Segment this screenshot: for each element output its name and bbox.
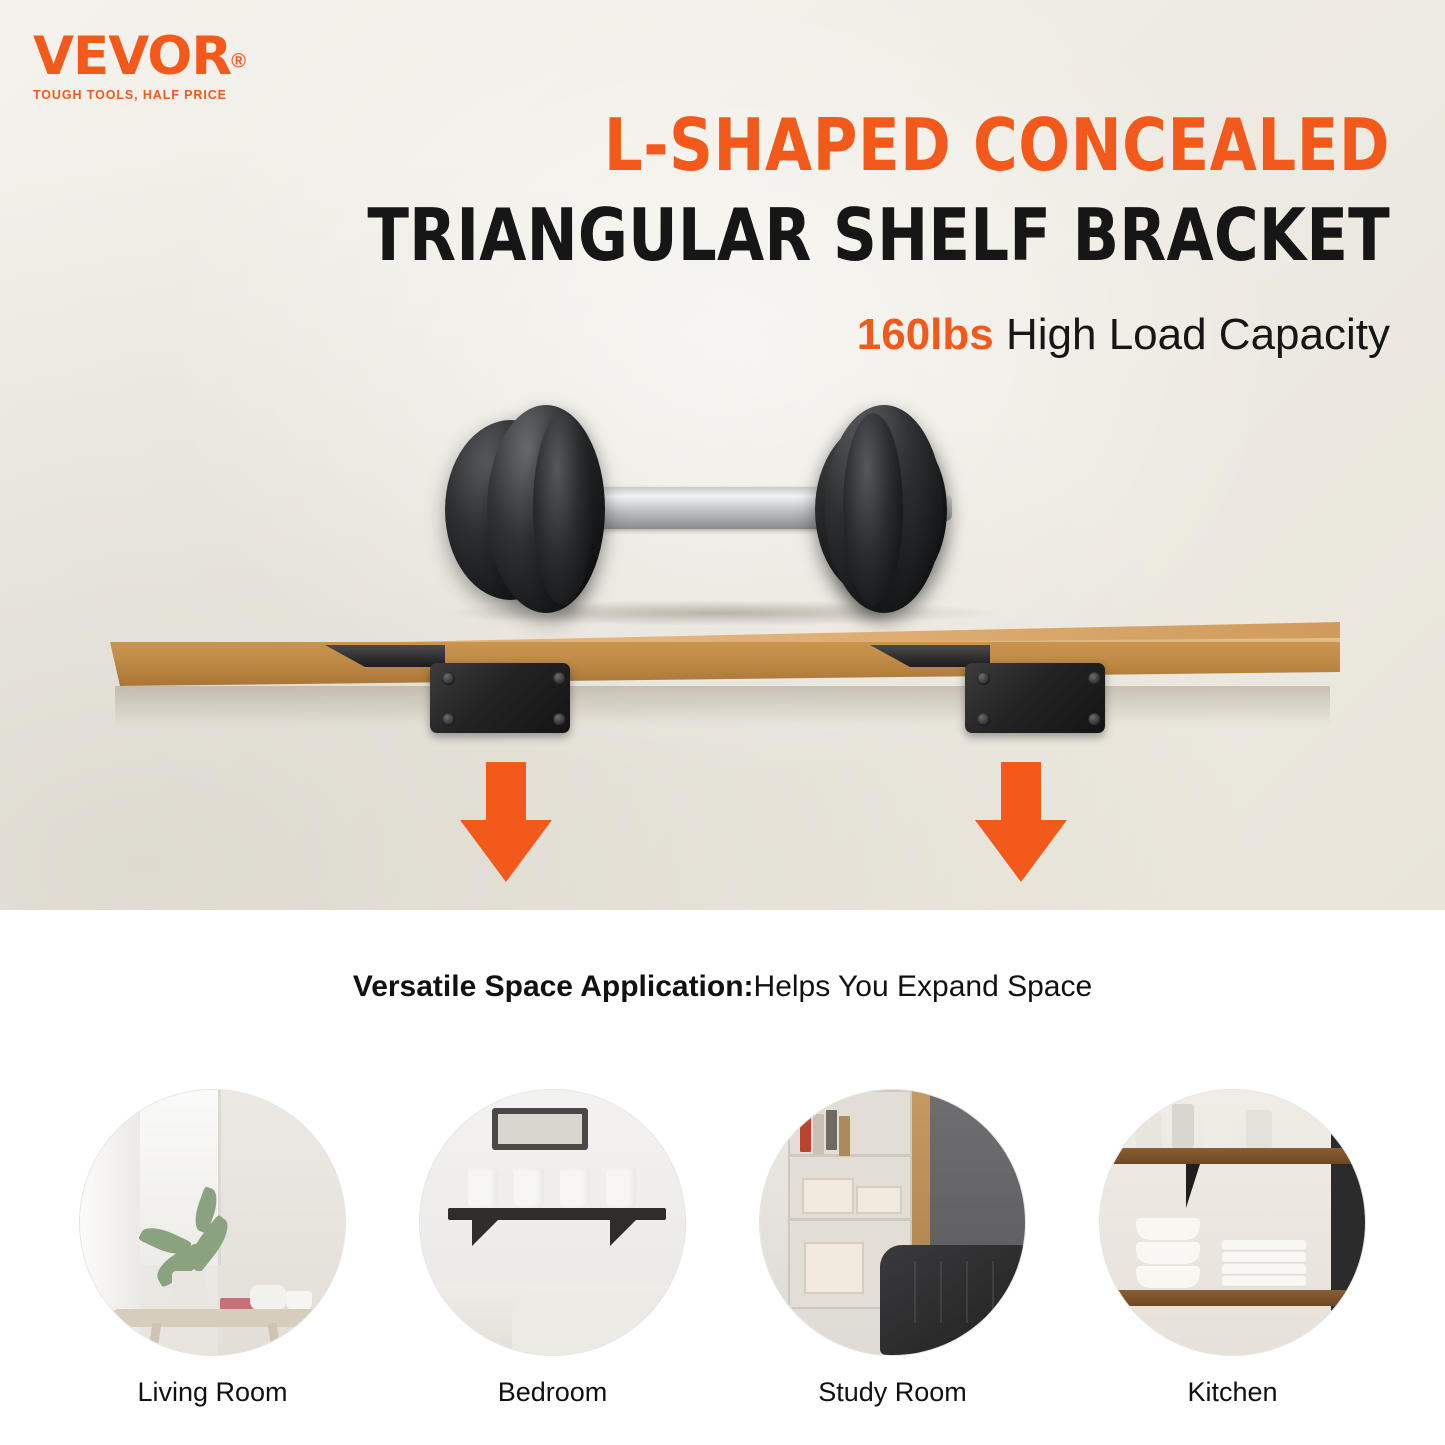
capacity-line: 160lbs High Load Capacity [290, 310, 1390, 360]
storage-box-1 [802, 1178, 854, 1214]
registered-trademark-icon: ® [231, 51, 246, 73]
mug-4 [606, 1168, 636, 1208]
applications-heading: Versatile Space Application:Helps You Ex… [0, 970, 1445, 1004]
arrow-right-stem [1001, 762, 1041, 824]
application-gallery: Living Room Bedroom [0, 1090, 1445, 1408]
jar-4 [1246, 1110, 1272, 1148]
side-table [110, 1309, 345, 1327]
applications-heading-bold: Versatile Space Application: [353, 970, 754, 1003]
teapot [250, 1285, 286, 1311]
chair-seam-4 [992, 1261, 994, 1323]
shelf-front-face [110, 642, 1340, 686]
bookcase-shelf-2 [790, 1218, 910, 1221]
mug-1 [468, 1168, 498, 1208]
table-leg-1 [148, 1322, 162, 1355]
l-bracket-left [325, 645, 585, 760]
living-room-scene [80, 1090, 345, 1355]
down-arrow-left [460, 762, 552, 882]
jar-3 [1204, 1116, 1232, 1148]
office-chair [880, 1245, 1025, 1355]
plate-stack-1 [1222, 1240, 1306, 1250]
bookcase-shelf-1 [790, 1154, 910, 1157]
application-item-kitchen[interactable]: Kitchen [1098, 1090, 1368, 1408]
teacup [286, 1291, 312, 1311]
bowl-2 [1136, 1242, 1200, 1264]
application-item-study-room[interactable]: Study Room [758, 1090, 1028, 1408]
application-label-living-room: Living Room [137, 1377, 287, 1408]
kitchen-bracket [1186, 1164, 1200, 1208]
bracket-left-arm [325, 645, 445, 667]
bracket-left-screw-2 [442, 713, 455, 726]
kitchen-dark-edge [1331, 1090, 1365, 1355]
book-3 [826, 1110, 837, 1150]
book-4 [839, 1116, 850, 1156]
applications-section: Versatile Space Application:Helps You Ex… [0, 910, 1445, 1445]
brand-tagline: TOUGH TOOLS, HALF PRICE [33, 88, 303, 102]
arrow-left-head [460, 820, 552, 882]
application-item-bedroom[interactable]: Bedroom [418, 1090, 688, 1408]
application-label-kitchen: Kitchen [1187, 1377, 1277, 1408]
brand-name: VEVOR [33, 30, 231, 83]
dumbbell-plate-left-face [533, 413, 593, 605]
down-arrow-right [975, 762, 1067, 882]
arrow-left-stem [486, 762, 526, 824]
bedroom-scene [420, 1090, 685, 1355]
study-room-scene [760, 1090, 1025, 1355]
wall-frame-inner [498, 1114, 582, 1144]
brand-logo: VEVOR® TOUGH TOOLS, HALF PRICE [33, 30, 303, 102]
applications-heading-rest: Helps You Expand Space [754, 970, 1093, 1003]
headline-line-1: L-SHAPED CONCEALED [290, 108, 1390, 184]
capacity-value: 160lbs [857, 310, 994, 359]
application-label-study-room: Study Room [818, 1377, 967, 1408]
dumbbell-plate-right-face [843, 413, 903, 605]
shelf-shadow [115, 686, 1330, 726]
arrow-right-head [975, 820, 1067, 882]
kitchen-scene [1100, 1090, 1365, 1355]
application-label-bedroom: Bedroom [498, 1377, 608, 1408]
plant-pot [172, 1271, 206, 1311]
book-1 [800, 1112, 811, 1152]
kitchen-shelf-bottom [1100, 1290, 1365, 1306]
chair-seam-2 [940, 1261, 942, 1323]
bedroom-bracket-left [472, 1220, 498, 1246]
jar-1 [1136, 1114, 1162, 1148]
chair-seam-1 [914, 1261, 916, 1323]
mug-3 [560, 1168, 590, 1208]
capacity-text: High Load Capacity [994, 310, 1390, 359]
bedroom-shelf [448, 1208, 666, 1220]
jar-2 [1172, 1104, 1194, 1148]
blanket [512, 1293, 685, 1355]
headline-line-2: TRIANGULAR SHELF BRACKET [290, 199, 1390, 275]
bracket-left-screw-4 [553, 713, 566, 726]
bracket-right-screw-3 [1088, 672, 1101, 685]
living-room-photo [80, 1090, 345, 1355]
wall-frame [492, 1108, 588, 1150]
book-2 [813, 1114, 824, 1154]
bedroom-bracket-right [610, 1220, 636, 1246]
chair-seam-3 [966, 1261, 968, 1323]
plate-stack-3 [1222, 1264, 1306, 1274]
bedroom-photo [420, 1090, 685, 1355]
bowl-3 [1136, 1266, 1200, 1288]
wood-shelf [110, 612, 1340, 692]
plate-stack-2 [1222, 1252, 1306, 1262]
kitchen-photo [1100, 1090, 1365, 1355]
kitchen-shelf-top [1100, 1148, 1365, 1164]
study-room-photo [760, 1090, 1025, 1355]
mug-2 [514, 1168, 544, 1208]
dumbbell-icon [425, 395, 1005, 625]
bracket-left-screw-3 [553, 672, 566, 685]
bracket-right-screw-2 [977, 713, 990, 726]
hero-headline: L-SHAPED CONCEALED TRIANGULAR SHELF BRAC… [290, 120, 1390, 360]
bracket-right-screw-1 [977, 672, 990, 685]
storage-box-2 [856, 1186, 902, 1214]
l-bracket-right [870, 645, 1130, 760]
plate-stack-4 [1222, 1276, 1306, 1286]
storage-box-3 [804, 1242, 864, 1294]
bracket-left-screw-1 [442, 672, 455, 685]
application-item-living-room[interactable]: Living Room [78, 1090, 348, 1408]
hero-banner: VEVOR® TOUGH TOOLS, HALF PRICE L-SHAPED … [0, 0, 1445, 910]
bowl-1 [1136, 1218, 1200, 1240]
bracket-right-screw-4 [1088, 713, 1101, 726]
